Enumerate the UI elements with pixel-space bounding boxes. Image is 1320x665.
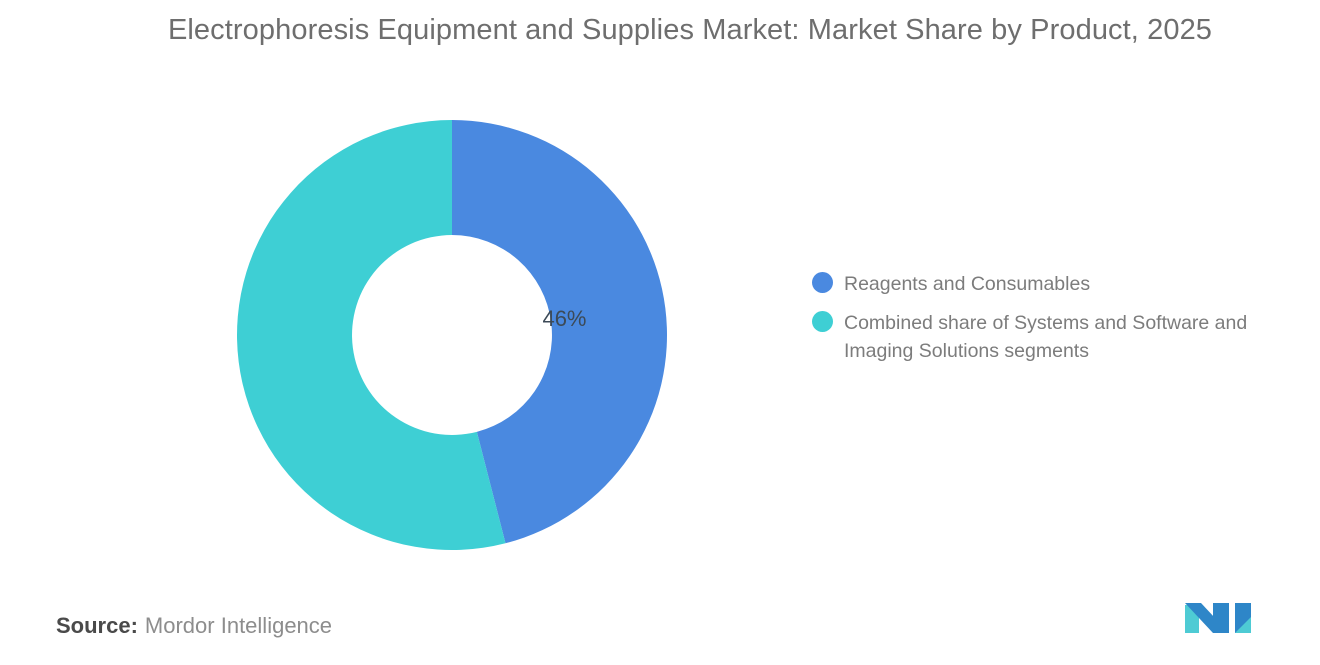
logo-mi-icon xyxy=(1183,597,1255,637)
legend-label-combined: Combined share of Systems and Software a… xyxy=(844,309,1269,365)
source-value: Mordor Intelligence xyxy=(145,613,332,638)
source-label: Source: xyxy=(56,613,138,638)
legend-label-reagents: Reagents and Consumables xyxy=(844,270,1090,298)
legend-item-reagents-and-consumables[interactable]: Reagents and Consumables xyxy=(812,270,1282,298)
mordor-intelligence-logo xyxy=(1183,597,1255,637)
chart-legend: Reagents and Consumables Combined share … xyxy=(812,270,1282,376)
legend-swatch-icon-combined xyxy=(812,311,833,332)
chart-title: Electrophoresis Equipment and Supplies M… xyxy=(165,10,1215,51)
source-line: Source:Mordor Intelligence xyxy=(56,610,332,642)
legend-item-combined-systems-software-imaging[interactable]: Combined share of Systems and Software a… xyxy=(812,309,1282,365)
donut-slice-group xyxy=(237,120,667,550)
legend-swatch-icon-reagents xyxy=(812,272,833,293)
donut-svg xyxy=(237,120,667,550)
donut-chart: 46% xyxy=(237,120,667,550)
